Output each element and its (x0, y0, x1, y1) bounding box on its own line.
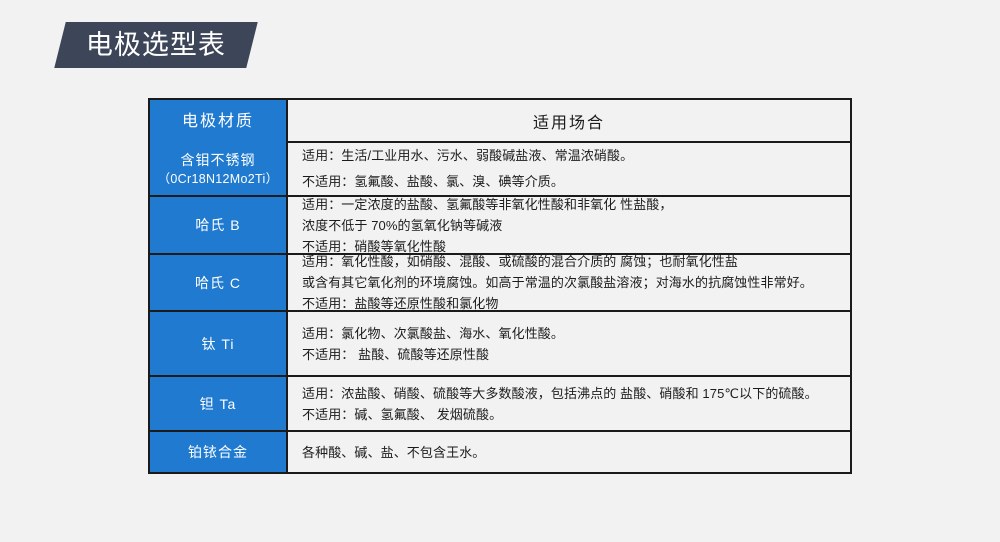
application-line: 不适用： 盐酸、硫酸等还原性酸 (302, 344, 842, 365)
table-header-application-label: 适用场合 (533, 109, 605, 133)
table-row: 哈氏 B 适用：一定浓度的盐酸、氢氟酸等非氧化性酸和非氧化 性盐酸， 浓度不低于… (150, 197, 850, 255)
table-row: 含钼不锈钢 （0Cr18N12Mo2Ti） 适用：生活/工业用水、污水、弱酸碱盐… (150, 143, 850, 197)
application-line: 适用：生活/工业用水、污水、弱酸碱盐液、常温浓硝酸。 (302, 143, 842, 169)
material-name: 铂铱合金 (188, 442, 248, 462)
application-cell: 适用：氯化物、次氯酸盐、海水、氧化性酸。 不适用： 盐酸、硫酸等还原性酸 (288, 312, 850, 375)
page-root: 电极选型表 电极材质 适用场合 含钼不锈钢 （0Cr18N12Mo2Ti） 适用… (0, 0, 1000, 542)
table-row: 哈氏 C 适用：氧化性酸，如硝酸、混酸、或硫酸的混合介质的 腐蚀；也耐氧化性盐 … (150, 255, 850, 312)
material-name: 含钼不锈钢 (181, 150, 256, 170)
material-cell: 钛 Ti (150, 312, 288, 375)
application-cell: 适用：一定浓度的盐酸、氢氟酸等非氧化性酸和非氧化 性盐酸， 浓度不低于 70%的… (288, 197, 850, 253)
application-line: 不适用：碱、氢氟酸、 发烟硫酸。 (302, 404, 842, 425)
application-line: 适用：氯化物、次氯酸盐、海水、氧化性酸。 (302, 323, 842, 344)
application-line: 适用：浓盐酸、硝酸、硫酸等大多数酸液，包括沸点的 盐酸、硝酸和 175℃以下的硫… (302, 383, 842, 404)
application-cell: 各种酸、碱、盐、不包含王水。 (288, 432, 850, 472)
material-cell: 含钼不锈钢 （0Cr18N12Mo2Ti） (150, 143, 288, 195)
material-name: 钛 Ti (201, 334, 234, 354)
table-row: 钽 Ta 适用：浓盐酸、硝酸、硫酸等大多数酸液，包括沸点的 盐酸、硝酸和 175… (150, 377, 850, 432)
material-cell: 哈氏 B (150, 197, 288, 253)
table-header-row: 电极材质 适用场合 (150, 100, 850, 143)
material-cell: 哈氏 C (150, 255, 288, 310)
table-header-application: 适用场合 (288, 100, 850, 141)
page-title: 电极选型表 (86, 32, 226, 59)
table-row: 铂铱合金 各种酸、碱、盐、不包含王水。 (150, 432, 850, 472)
material-name: 哈氏 B (195, 215, 240, 235)
application-line: 不适用：氢氟酸、盐酸、氯、溴、碘等介质。 (302, 169, 842, 195)
application-cell: 适用：生活/工业用水、污水、弱酸碱盐液、常温浓硝酸。 不适用：氢氟酸、盐酸、氯、… (288, 143, 850, 195)
application-line: 不适用：盐酸等还原性酸和氯化物 (302, 293, 842, 314)
table-row: 钛 Ti 适用：氯化物、次氯酸盐、海水、氧化性酸。 不适用： 盐酸、硫酸等还原性… (150, 312, 850, 377)
material-code: （0Cr18N12Mo2Ti） (158, 170, 279, 189)
application-line: 或含有其它氧化剂的环境腐蚀。如高于常温的次氯酸盐溶液；对海水的抗腐蚀性非常好。 (302, 272, 842, 293)
application-line: 适用：一定浓度的盐酸、氢氟酸等非氧化性酸和非氧化 性盐酸， (302, 194, 842, 215)
material-name: 钽 Ta (200, 394, 237, 414)
application-line: 各种酸、碱、盐、不包含王水。 (302, 442, 842, 463)
material-cell: 铂铱合金 (150, 432, 288, 472)
application-line: 浓度不低于 70%的氢氧化钠等碱液 (302, 215, 842, 236)
table-header-material-label: 电极材质 (182, 112, 254, 132)
table-header-material: 电极材质 (150, 100, 288, 143)
application-cell: 适用：浓盐酸、硝酸、硫酸等大多数酸液，包括沸点的 盐酸、硝酸和 175℃以下的硫… (288, 377, 850, 430)
application-line: 适用：氧化性酸，如硝酸、混酸、或硫酸的混合介质的 腐蚀；也耐氧化性盐 (302, 251, 842, 272)
page-title-banner: 电极选型表 (54, 22, 257, 68)
material-cell: 钽 Ta (150, 377, 288, 430)
application-cell: 适用：氧化性酸，如硝酸、混酸、或硫酸的混合介质的 腐蚀；也耐氧化性盐 或含有其它… (288, 255, 850, 310)
material-name: 哈氏 C (195, 273, 241, 293)
electrode-selection-table: 电极材质 适用场合 含钼不锈钢 （0Cr18N12Mo2Ti） 适用：生活/工业… (148, 98, 852, 474)
